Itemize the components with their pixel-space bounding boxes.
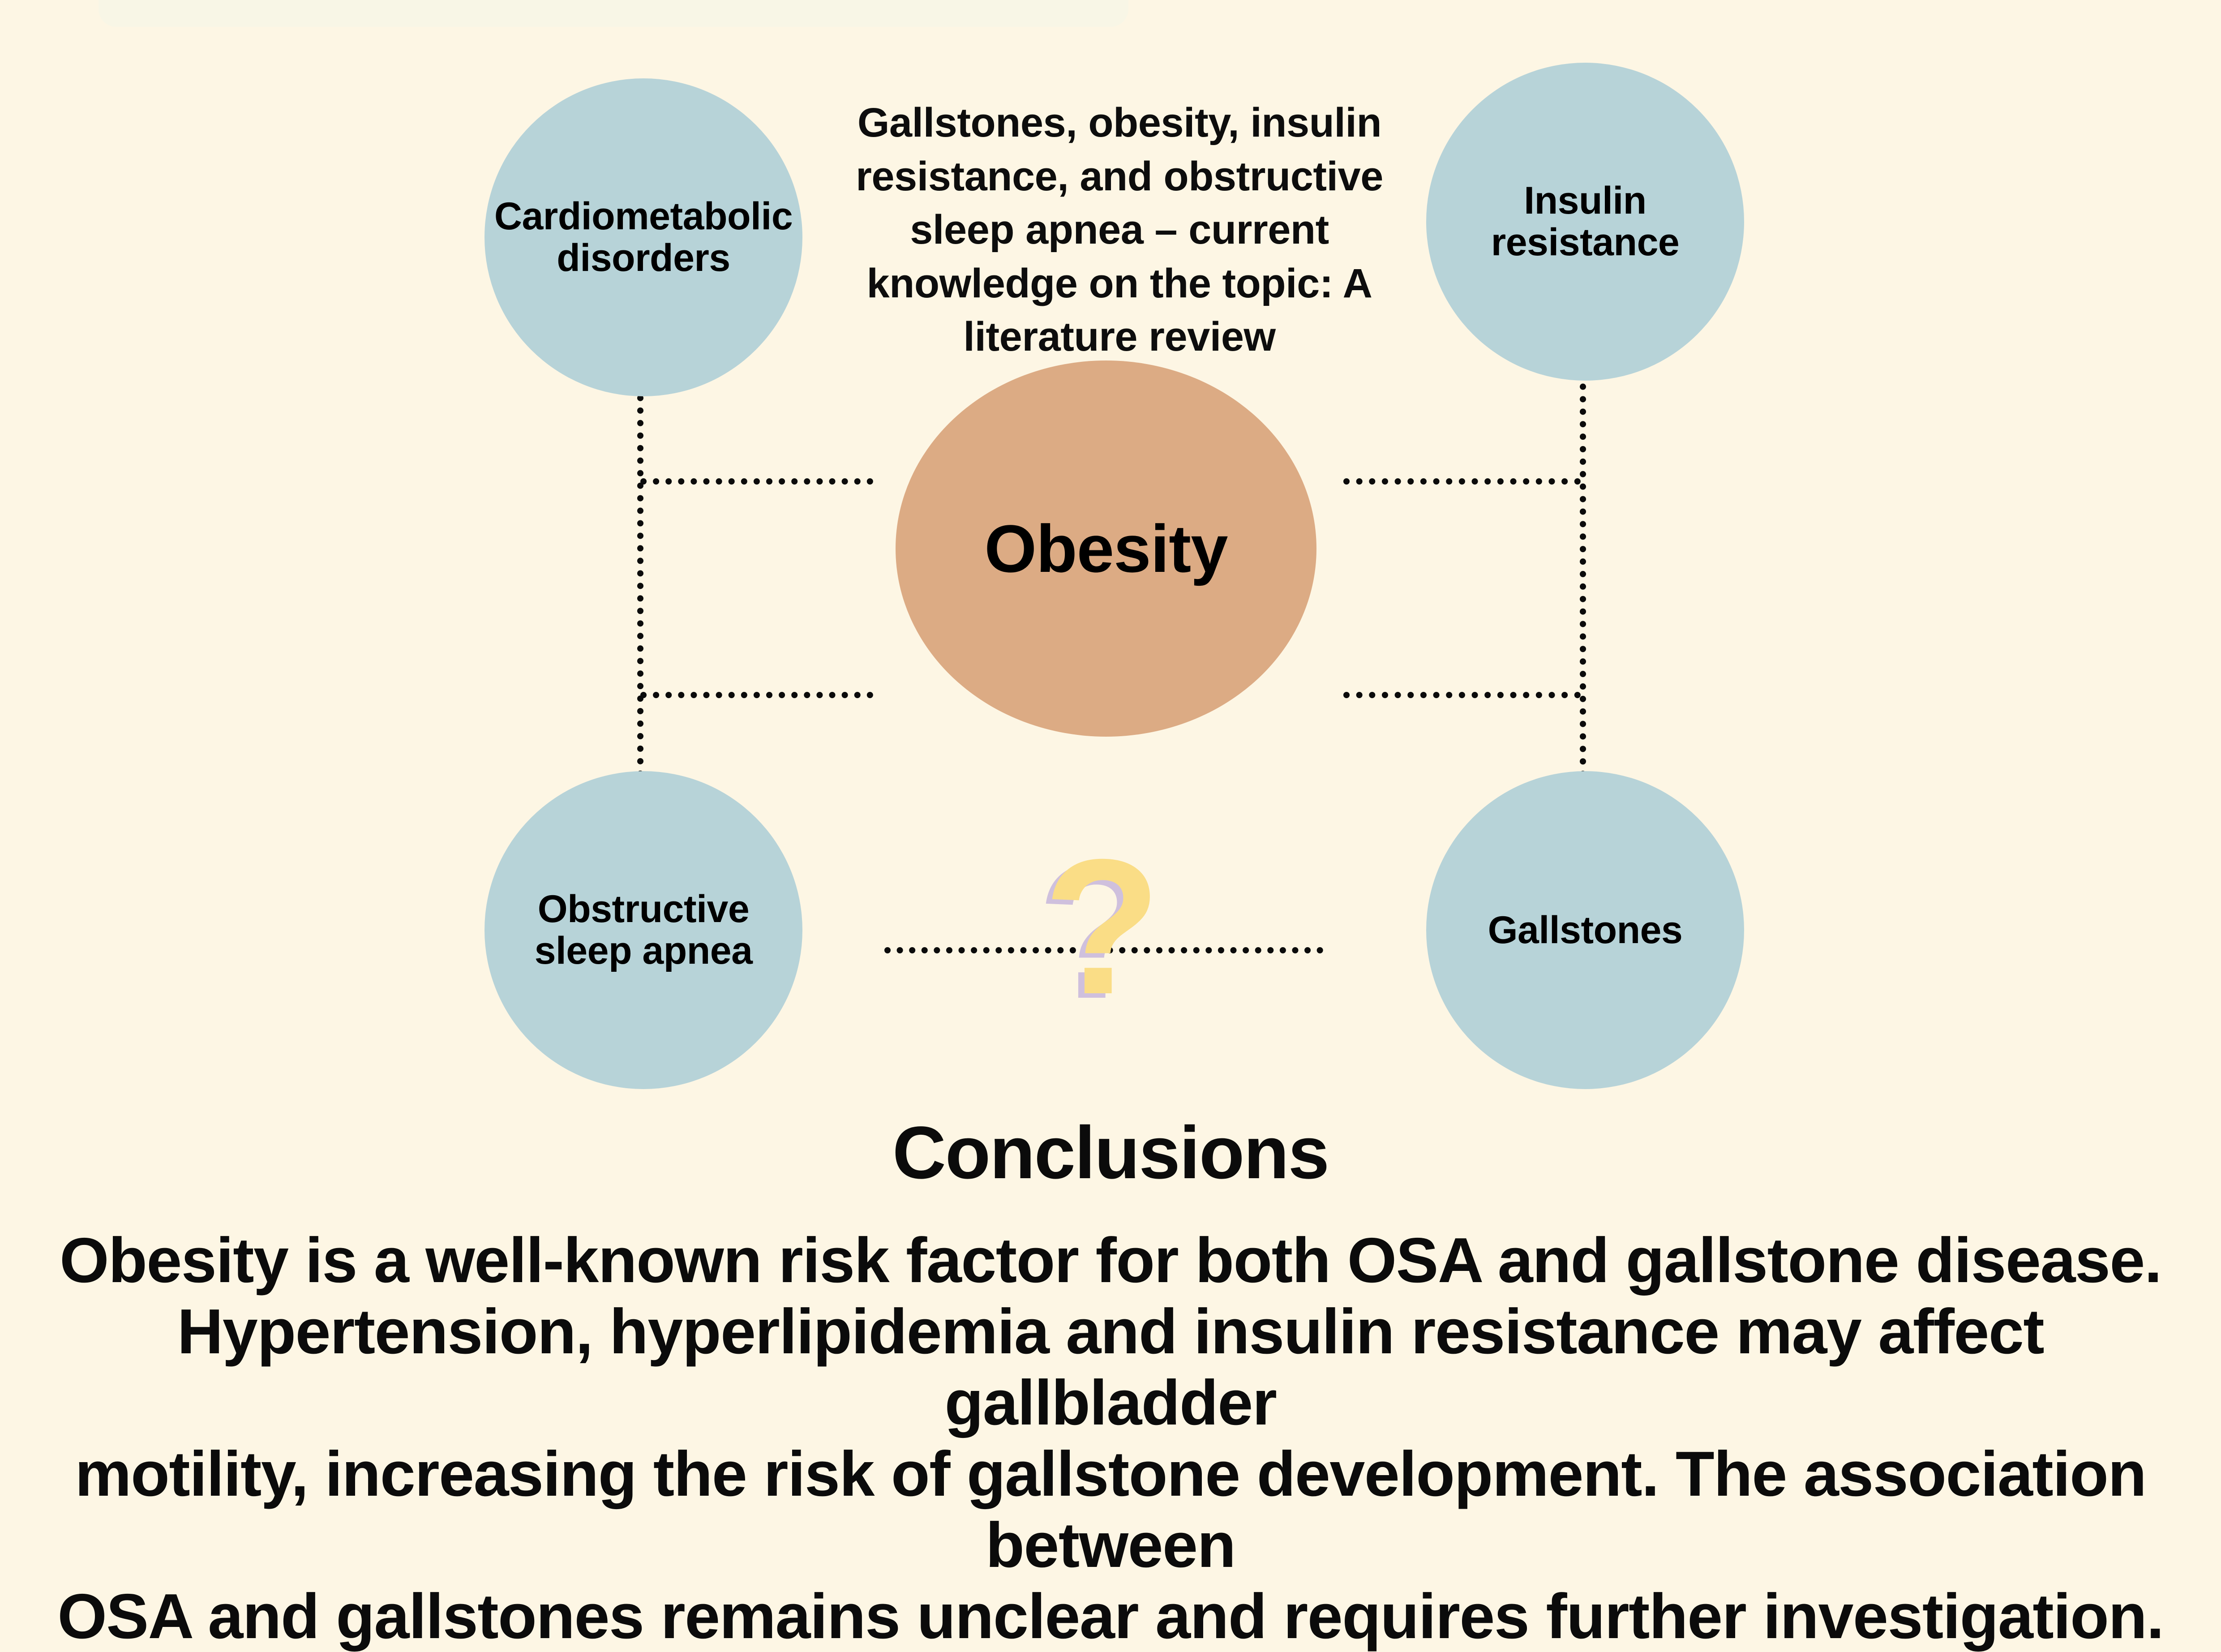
node-label-obstructive-sleep-apnea: Obstructive sleep apnea (522, 888, 765, 972)
connector-right-vertical (1580, 334, 1586, 840)
node-obesity: Obesity (896, 360, 1316, 737)
connector-right-bottom-branch (1343, 692, 1581, 698)
node-label-gallstones: Gallstones (1475, 910, 1695, 951)
node-insulin-resistance: Insulin resistance (1426, 63, 1744, 381)
node-gallstones: Gallstones (1426, 771, 1744, 1089)
question-mark-icon: ? (1043, 831, 1161, 1023)
node-label-obesity: Obesity (972, 512, 1240, 585)
connector-right-top-branch (1343, 478, 1581, 485)
conclusions-line: Obesity is a well-known risk factor for … (45, 1225, 2176, 1296)
connector-left-bottom-branch (640, 692, 873, 698)
conclusions-line: Hypertension, hyperlipidemia and insulin… (45, 1296, 2176, 1438)
node-cardiometabolic-disorders: Cardiometabolic disorders (485, 78, 802, 396)
graphical-abstract: Gallstones, obesity, insulin resistance,… (0, 0, 2221, 1551)
conclusions-body: Obesity is a well-known risk factor for … (45, 1225, 2176, 1652)
node-obstructive-sleep-apnea: Obstructive sleep apnea (485, 771, 802, 1089)
conclusions-line: motility, increasing the risk of gallsto… (45, 1438, 2176, 1581)
connector-left-top-branch (640, 478, 873, 485)
node-label-insulin-resistance: Insulin resistance (1479, 180, 1692, 263)
conclusions-line: OSA and gallstones remains unclear and r… (45, 1581, 2176, 1652)
connector-left-vertical (637, 345, 643, 840)
node-label-cardiometabolic-disorders: Cardiometabolic disorders (482, 196, 805, 279)
conclusions-heading: Conclusions (0, 1111, 2221, 1196)
page-title: Gallstones, obesity, insulin resistance,… (822, 96, 1417, 364)
